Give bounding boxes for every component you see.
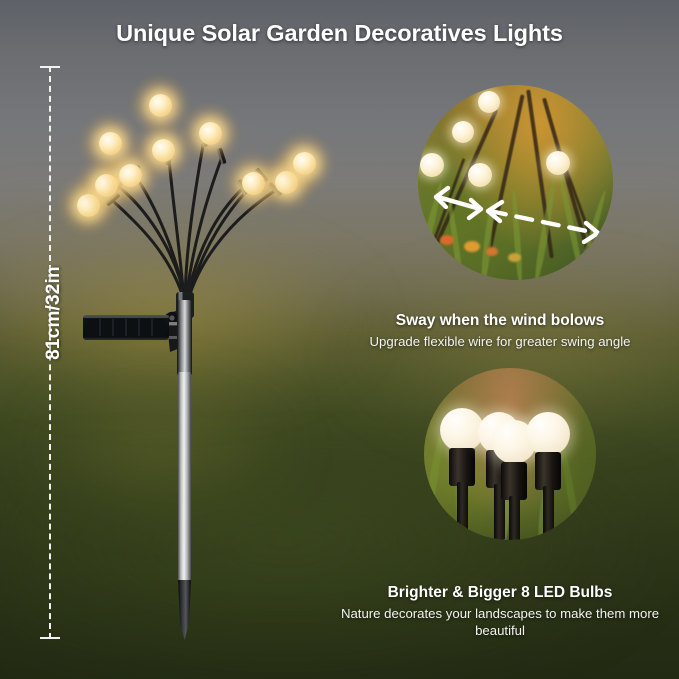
bulbs-inset <box>424 368 596 540</box>
bulb-neck <box>449 448 475 486</box>
sway-caption-subtitle: Upgrade flexible wire for greater swing … <box>330 334 670 351</box>
double-arrow-dashed-long-icon <box>488 202 598 242</box>
sway-inset <box>418 85 613 280</box>
double-arrow-short-icon <box>436 188 481 218</box>
bulb-core <box>99 132 122 155</box>
sway-caption: Sway when the wind bolows Upgrade flexib… <box>330 312 670 351</box>
bulb-core <box>152 139 175 162</box>
bulb-neck <box>535 452 561 490</box>
bulb-rod <box>509 496 520 540</box>
bulbs-caption-subtitle: Nature decorates your landscapes to make… <box>330 606 670 640</box>
sway-caption-title: Sway when the wind bolows <box>330 312 670 330</box>
bulb-core <box>149 94 172 117</box>
bulb-rod <box>543 486 554 540</box>
bulbs-caption: Brighter & Bigger 8 LED Bulbs Nature dec… <box>330 584 670 640</box>
product-solar-panel <box>83 315 169 340</box>
product-pole <box>178 372 191 588</box>
product-stake-tip <box>178 580 191 640</box>
bulbs-caption-title: Brighter & Bigger 8 LED Bulbs <box>330 584 670 602</box>
bulb-core <box>199 122 222 145</box>
product-infographic: Unique Solar Garden Decoratives Lights 8… <box>0 0 679 679</box>
inset-big-bulb <box>524 410 582 540</box>
bulb-core <box>293 152 316 175</box>
sway-arrows <box>418 85 613 280</box>
bulb-head <box>526 412 570 456</box>
bulb-rod <box>457 482 468 538</box>
product-upper-tube <box>177 300 192 376</box>
